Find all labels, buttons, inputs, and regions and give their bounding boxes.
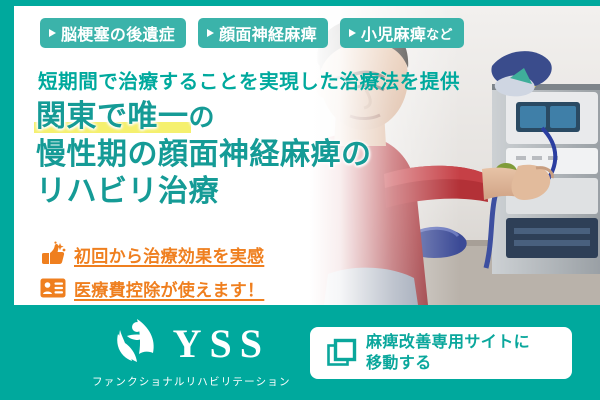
headline-line-2: 慢性期の顔面神経麻痺の bbox=[36, 136, 372, 173]
headline-line-1: 関東で唯一の bbox=[36, 98, 372, 136]
thumbs-up-sparkle-icon bbox=[38, 241, 68, 267]
condition-tag[interactable]: 顔面神経麻痺 bbox=[198, 18, 328, 48]
benefit-item: 初回から治療効果を実感 bbox=[38, 240, 264, 268]
headline-line-3: リハビリ治療 bbox=[36, 173, 372, 210]
brand-logo-row: YSS bbox=[113, 317, 270, 370]
cta-button[interactable]: 麻痺改善専用サイトに 移動する bbox=[310, 327, 572, 379]
condition-tag-label: 小児麻痺 bbox=[361, 21, 426, 45]
cta-label-line-1: 麻痺改善専用サイトに bbox=[366, 334, 530, 351]
brand-tagline: ファンクショナルリハビリテーション bbox=[92, 374, 291, 389]
cta-label-line-2: 移動する bbox=[366, 355, 432, 372]
benefit-label: 初回から治療効果を実感 bbox=[74, 242, 264, 267]
brand-logo: YSS ファンクショナルリハビリテーション bbox=[92, 317, 291, 389]
triangle-right-icon bbox=[349, 29, 356, 37]
condition-tag-suffix: など bbox=[426, 24, 453, 43]
condition-tag[interactable]: 小児麻痺 など bbox=[340, 18, 464, 48]
condition-tag[interactable]: 脳梗塞の後遺症 bbox=[40, 18, 186, 48]
condition-tag-list: 脳梗塞の後遺症 顔面神経麻痺 小児麻痺 など bbox=[40, 18, 464, 48]
id-card-icon bbox=[38, 278, 68, 298]
yss-leaf-person-logo bbox=[113, 317, 161, 370]
main-headline: 関東で唯一の 慢性期の顔面神経麻痺の リハビリ治療 bbox=[36, 98, 372, 210]
headline-highlight: 関東で唯一 bbox=[36, 98, 189, 135]
triangle-right-icon bbox=[49, 29, 56, 37]
headline-line-1-tail: の bbox=[189, 102, 216, 132]
sub-headline: 短期間で治療することを実現した治療法を提供 bbox=[38, 65, 460, 94]
promo-banner: 脳梗塞の後遺症 顔面神経麻痺 小児麻痺 など 短期間で治療することを実現した治療… bbox=[0, 0, 600, 400]
new-window-icon bbox=[324, 338, 360, 368]
brand-name: YSS bbox=[173, 324, 270, 364]
triangle-right-icon bbox=[207, 29, 214, 37]
condition-tag-label: 脳梗塞の後遺症 bbox=[61, 21, 175, 45]
condition-tag-label: 顔面神経麻痺 bbox=[219, 21, 317, 45]
benefit-list: 初回から治療効果を実感 医療費控除が使えます！ bbox=[38, 240, 264, 305]
benefit-item: 医療費控除が使えます！ bbox=[38, 274, 264, 302]
benefit-label: 医療費控除が使えます！ bbox=[74, 276, 264, 301]
content-panel: 脳梗塞の後遺症 顔面神経麻痺 小児麻痺 など 短期間で治療することを実現した治療… bbox=[14, 6, 600, 305]
cta-label: 麻痺改善専用サイトに 移動する bbox=[366, 332, 530, 374]
footer-bar: YSS ファンクショナルリハビリテーション 麻痺改善専用サイトに 移動する bbox=[0, 305, 600, 400]
